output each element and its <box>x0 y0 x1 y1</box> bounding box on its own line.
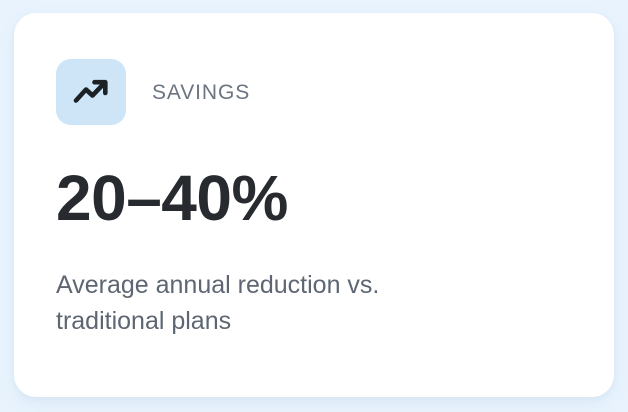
eyebrow-label: SAVINGS <box>152 82 250 103</box>
headline-value: 20–40% <box>56 166 580 230</box>
card-content: SAVINGS 20–40% Average annual reduction … <box>56 59 580 339</box>
card-header: SAVINGS <box>56 59 580 125</box>
trending-up-icon <box>73 79 109 106</box>
description-text: Average annual reduction vs. traditional… <box>56 268 486 339</box>
savings-stat-card: SAVINGS 20–40% Average annual reduction … <box>14 13 614 397</box>
trending-up-icon-badge <box>56 59 126 125</box>
